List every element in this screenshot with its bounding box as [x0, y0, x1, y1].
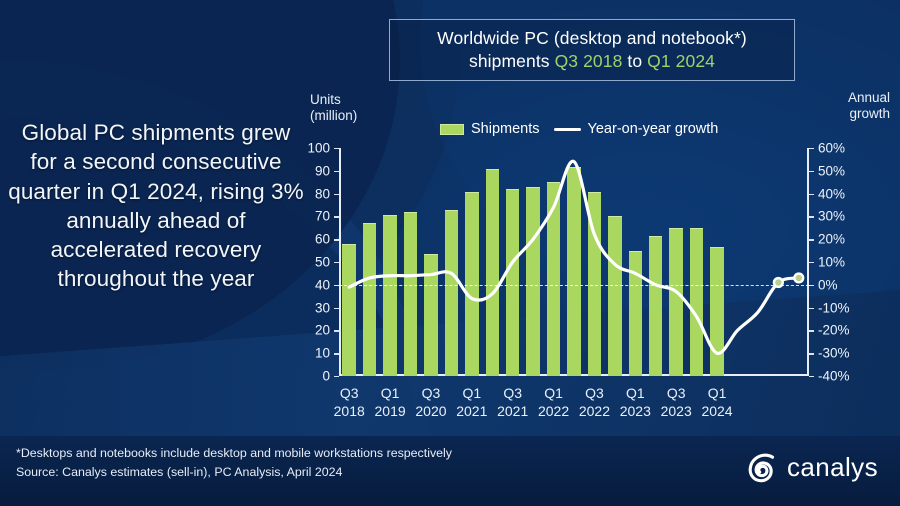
- x-axis-label: Q12019: [375, 385, 406, 420]
- y-axis-left-label: 20: [315, 323, 330, 338]
- y-axis-right-label: 20%: [818, 232, 845, 247]
- y-axis-left-label: 60: [315, 232, 330, 247]
- x-axis-label: Q12022: [538, 385, 569, 420]
- x-axis-label: Q32022: [579, 385, 610, 420]
- x-axis-label: Q12024: [701, 385, 732, 420]
- canalys-logo: canalys: [746, 452, 878, 483]
- title-line-1: Worldwide PC (desktop and notebook*): [437, 28, 747, 48]
- x-axis-label: Q32023: [661, 385, 692, 420]
- canalys-swirl-icon: [746, 453, 778, 483]
- chart-title: Worldwide PC (desktop and notebook*) shi…: [437, 27, 747, 73]
- y-axis-left-label: 30: [315, 300, 330, 315]
- bar-swatch-icon: [440, 124, 464, 135]
- y-axis-left-label: 80: [315, 186, 330, 201]
- y-axis-right-label: 30%: [818, 209, 845, 224]
- x-axis-label: Q32021: [497, 385, 528, 420]
- y-axis-right-label: 40%: [818, 186, 845, 201]
- x-label-quarter: Q1: [708, 385, 727, 401]
- y-axis-right-label: 60%: [818, 141, 845, 156]
- y-axis-left-label: 70: [315, 209, 330, 224]
- plot-inner: 0102030405060708090100-40%-30%-20%-10%0%…: [339, 148, 809, 376]
- x-label-quarter: Q1: [626, 385, 645, 401]
- y-axis-right-tick: [809, 330, 814, 331]
- y-axis-right-tick: [809, 353, 814, 354]
- slide-canvas: Worldwide PC (desktop and notebook*) shi…: [0, 0, 900, 506]
- y-axis-right-tick: [809, 216, 814, 217]
- x-label-quarter: Q1: [544, 385, 563, 401]
- x-label-year: 2021: [497, 403, 528, 419]
- right-axis-caption: Annual growth: [848, 90, 890, 123]
- x-label-year: 2019: [375, 403, 406, 419]
- x-axis-label: Q12021: [456, 385, 487, 420]
- line-swatch-icon: [554, 128, 581, 131]
- y-axis-left-label: 40: [315, 277, 330, 292]
- x-label-quarter: Q3: [667, 385, 686, 401]
- x-label-quarter: Q3: [585, 385, 604, 401]
- legend-label-shipments: Shipments: [471, 121, 540, 137]
- y-axis-right-tick: [809, 239, 814, 240]
- growth-marker-q4-2023[interactable]: [774, 278, 783, 287]
- x-label-quarter: Q1: [462, 385, 481, 401]
- legend-item-growth: Year-on-year growth: [554, 121, 719, 137]
- growth-line-path: [349, 161, 799, 353]
- footnote-block: *Desktops and notebooks include desktop …: [16, 444, 452, 482]
- x-label-year: 2022: [579, 403, 610, 419]
- y-axis-right-tick: [809, 262, 814, 263]
- y-axis-right-tick: [809, 148, 814, 149]
- x-label-year: 2023: [620, 403, 651, 419]
- chart-legend: Shipments Year-on-year growth: [440, 121, 718, 137]
- legend-label-growth: Year-on-year growth: [588, 121, 719, 137]
- y-axis-left-tick: [334, 376, 339, 377]
- x-label-quarter: Q3: [422, 385, 441, 401]
- x-label-quarter: Q1: [381, 385, 400, 401]
- x-label-year: 2020: [415, 403, 446, 419]
- y-axis-right-label: -30%: [818, 346, 850, 361]
- x-label-year: 2022: [538, 403, 569, 419]
- left-axis-caption: Units (million): [310, 92, 357, 125]
- narrative-text: Global PC shipments grew for a second co…: [6, 118, 306, 294]
- y-axis-right-label: 50%: [818, 163, 845, 178]
- y-axis-left-label: 50: [315, 255, 330, 270]
- growth-line-series: [339, 148, 809, 376]
- chart-title-box: Worldwide PC (desktop and notebook*) shi…: [389, 19, 795, 81]
- x-label-quarter: Q3: [503, 385, 522, 401]
- x-label-quarter: Q3: [340, 385, 359, 401]
- x-label-year: 2021: [456, 403, 487, 419]
- y-axis-left-label: 100: [307, 141, 330, 156]
- y-axis-right-label: -20%: [818, 323, 850, 338]
- y-axis-right-tick: [809, 285, 814, 286]
- y-axis-left-label: 90: [315, 163, 330, 178]
- footnote-source: Source: Canalys estimates (sell-in), PC …: [16, 463, 452, 482]
- x-axis-label: Q12023: [620, 385, 651, 420]
- canalys-wordmark: canalys: [787, 452, 878, 483]
- y-axis-right-label: -10%: [818, 300, 850, 315]
- x-axis-label: Q32020: [415, 385, 446, 420]
- left-axis-caption-line2: (million): [310, 108, 357, 123]
- legend-item-shipments: Shipments: [440, 121, 540, 137]
- x-axis-label: Q32018: [334, 385, 365, 420]
- x-label-year: 2023: [661, 403, 692, 419]
- y-axis-right-tick: [809, 194, 814, 195]
- y-axis-right-label: 0%: [818, 277, 838, 292]
- chart-plot-area: 0102030405060708090100-40%-30%-20%-10%0%…: [339, 148, 809, 376]
- y-axis-left-label: 10: [315, 346, 330, 361]
- title-period-end: Q1 2024: [647, 51, 715, 71]
- y-axis-left-label: 0: [322, 369, 330, 384]
- y-axis-right-label: -40%: [818, 369, 850, 384]
- x-label-year: 2024: [701, 403, 732, 419]
- x-label-year: 2018: [334, 403, 365, 419]
- y-axis-right-tick: [809, 171, 814, 172]
- title-line-2-prefix: shipments: [469, 51, 555, 71]
- title-line-2-mid: to: [622, 51, 647, 71]
- right-axis-caption-line1: Annual: [848, 90, 890, 105]
- right-axis-caption-line2: growth: [849, 106, 890, 121]
- left-axis-caption-line1: Units: [310, 92, 341, 107]
- y-axis-right-label: 10%: [818, 255, 845, 270]
- growth-marker-q1-2024[interactable]: [794, 274, 803, 283]
- y-axis-right-tick: [809, 308, 814, 309]
- footnote-asterisk: *Desktops and notebooks include desktop …: [16, 444, 452, 463]
- y-axis-right-tick: [809, 376, 814, 377]
- title-period-start: Q3 2018: [555, 51, 623, 71]
